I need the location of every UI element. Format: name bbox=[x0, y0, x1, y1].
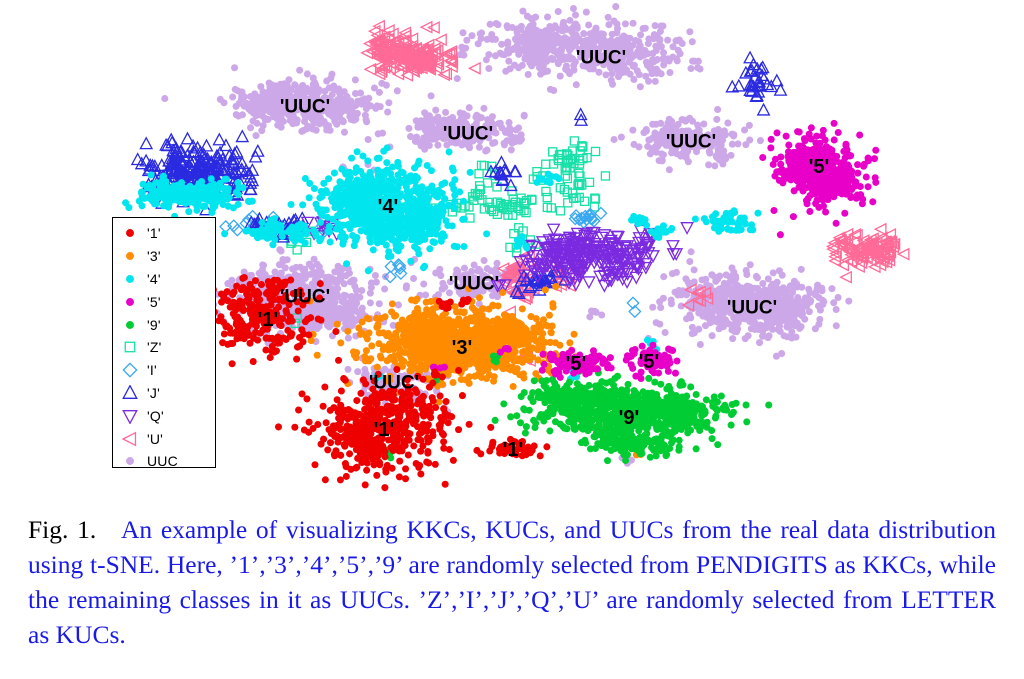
triangle-down-icon bbox=[113, 408, 147, 424]
diamond-icon bbox=[113, 362, 147, 378]
legend-item-5: '5' bbox=[113, 290, 215, 313]
legend-item-1: '1' bbox=[113, 222, 215, 245]
circle-icon bbox=[113, 225, 147, 241]
legend-item-U: 'U' bbox=[113, 427, 215, 450]
circle-icon bbox=[113, 453, 147, 469]
legend-item-label: 'Q' bbox=[147, 408, 164, 424]
circle-icon bbox=[113, 317, 147, 333]
legend-item-3: '3' bbox=[113, 245, 215, 268]
legend-item-label: '1' bbox=[147, 225, 161, 241]
triangle-up-icon bbox=[113, 385, 147, 401]
circle-icon bbox=[113, 271, 147, 287]
legend-item-label: '9' bbox=[147, 317, 161, 333]
legend-item-Z: 'Z' bbox=[113, 336, 215, 359]
legend-item-9: '9' bbox=[113, 313, 215, 336]
caption-text: An example of visualizing KKCs, KUCs, an… bbox=[28, 515, 996, 649]
triangle-left-icon bbox=[113, 431, 147, 447]
legend-item-Q: 'Q' bbox=[113, 404, 215, 427]
legend-box: '1''3''4''5''9''Z''I''J''Q''U'UUC bbox=[112, 217, 216, 468]
legend-item-label: 'J' bbox=[147, 385, 160, 401]
legend-item-label: '3' bbox=[147, 248, 161, 264]
legend-item-label: '4' bbox=[147, 271, 161, 287]
legend-item-label: UUC bbox=[147, 453, 178, 469]
figure-caption: Fig. 1. An example of visualizing KKCs, … bbox=[28, 512, 996, 652]
square-icon bbox=[113, 339, 147, 355]
legend-item-4: '4' bbox=[113, 268, 215, 291]
circle-icon bbox=[113, 248, 147, 264]
legend-item-label: '5' bbox=[147, 294, 161, 310]
circle-icon bbox=[113, 294, 147, 310]
legend-item-label: 'I' bbox=[147, 362, 157, 378]
legend-item-UUC: UUC bbox=[113, 450, 215, 473]
legend-item-J: 'J' bbox=[113, 382, 215, 405]
legend-item-I: 'I' bbox=[113, 359, 215, 382]
figure-canvas: 'UUC''UUC''UUC''UUC''UUC''UUC''UUC''UUC'… bbox=[0, 0, 1024, 500]
caption-figure-number: Fig. 1. bbox=[28, 515, 96, 544]
legend-item-label: 'Z' bbox=[147, 339, 162, 355]
legend-item-label: 'U' bbox=[147, 431, 163, 447]
